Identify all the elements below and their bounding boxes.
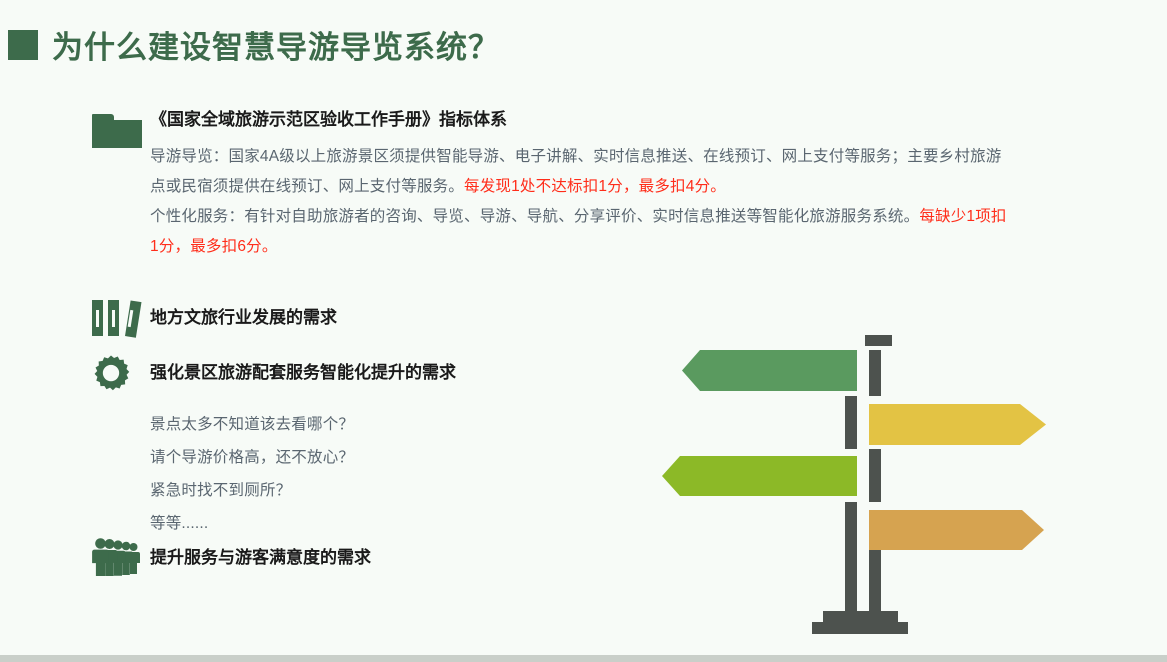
signpost-illustration bbox=[660, 330, 1080, 655]
people-group-icon bbox=[92, 538, 144, 576]
section-manual: 《国家全域旅游示范区验收工作手册》指标体系 导游导览：国家4A级以上旅游景区须提… bbox=[92, 110, 992, 262]
signpost-top-cap bbox=[865, 335, 892, 346]
section-local: 地方文旅行业发展的需求 bbox=[92, 300, 612, 336]
bottom-edge-strip bbox=[0, 655, 1167, 662]
signpost-post-lower-left bbox=[845, 502, 857, 620]
folder-icon-slot bbox=[92, 110, 150, 148]
gear-icon bbox=[92, 355, 130, 393]
signpost-post-upper-right bbox=[869, 350, 881, 396]
books-icon-slot bbox=[92, 300, 150, 336]
gear-icon-slot bbox=[92, 355, 150, 393]
arrow-lightgreen-left bbox=[662, 456, 857, 496]
manual-p2-text: 个性化服务：有针对自助旅游者的咨询、导览、导游、导航、分享评价、实时信息推送等智… bbox=[150, 208, 919, 225]
section-manual-heading: 《国家全域旅游示范区验收工作手册》指标体系 bbox=[150, 110, 1010, 130]
section-manual-paragraph-1: 导游导览：国家4A级以上旅游景区须提供智能导游、电子讲解、实时信息推送、在线预订… bbox=[150, 142, 1010, 202]
books-icon bbox=[92, 300, 140, 336]
signpost-base-lower bbox=[812, 622, 908, 634]
folder-icon bbox=[92, 114, 142, 148]
folder-icon-body bbox=[92, 120, 142, 148]
arrow-orange-right bbox=[869, 510, 1044, 550]
books-icon-stripe-1 bbox=[96, 310, 99, 327]
section-local-heading: 地方文旅行业发展的需求 bbox=[150, 308, 337, 328]
signpost-post-lower-right bbox=[869, 542, 881, 620]
question-line: 等等...... bbox=[150, 507, 620, 540]
section-satisfaction: 提升服务与游客满意度的需求 bbox=[92, 538, 612, 576]
manual-p1-highlight: 每发现1处不达标扣1分，最多扣4分。 bbox=[464, 178, 726, 195]
people-group-icon-slot bbox=[92, 538, 150, 576]
slide-canvas: 为什么建设智慧导游导览系统？ 《国家全域旅游示范区验收工作手册》指标体系 导游导… bbox=[0, 0, 1167, 662]
signpost-post-upper-left bbox=[845, 396, 857, 449]
question-line: 请个导游价格高，还不放心？ bbox=[150, 441, 620, 474]
books-icon-book-3 bbox=[125, 300, 141, 337]
page-title: 为什么建设智慧导游导览系统？ bbox=[52, 22, 500, 67]
arrow-green-left bbox=[682, 350, 857, 391]
books-icon-stripe-2 bbox=[112, 310, 115, 327]
slide-title-row: 为什么建设智慧导游导览系统？ bbox=[8, 22, 500, 67]
section-satisfaction-heading: 提升服务与游客满意度的需求 bbox=[150, 548, 371, 568]
question-line: 紧急时找不到厕所？ bbox=[150, 474, 620, 507]
question-line: 景点太多不知道该去看哪个？ bbox=[150, 408, 620, 441]
signpost-post-middle bbox=[869, 449, 881, 502]
section-manual-paragraph-2: 个性化服务：有针对自助旅游者的咨询、导览、导游、导航、分享评价、实时信息推送等智… bbox=[150, 202, 1010, 262]
section-smart-questions: 景点太多不知道该去看哪个？ 请个导游价格高，还不放心？ 紧急时找不到厕所？ 等等… bbox=[150, 408, 620, 540]
section-smart-heading: 强化景区旅游配套服务智能化提升的需求 bbox=[150, 363, 456, 383]
section-smart: 强化景区旅游配套服务智能化提升的需求 bbox=[92, 355, 652, 393]
arrow-yellow-right bbox=[869, 404, 1046, 445]
title-bullet-square bbox=[8, 30, 38, 60]
